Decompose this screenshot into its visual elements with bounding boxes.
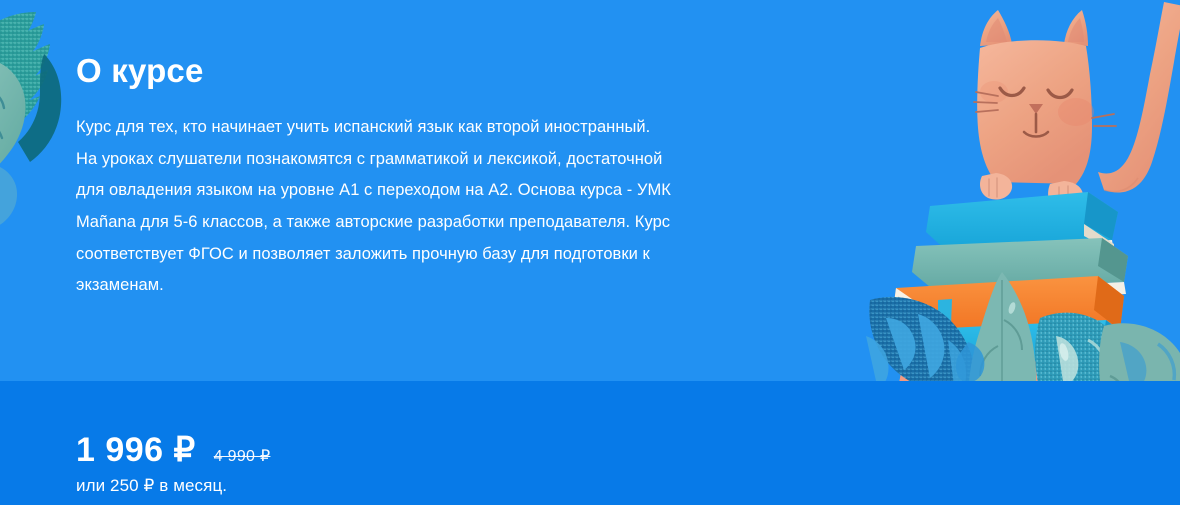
monthly-price-note: или 250 ₽ в месяц. (76, 476, 270, 496)
monstera-leaves-right-illustration (866, 272, 1180, 381)
old-price-strikethrough: 4 990 ₽ (214, 446, 271, 466)
about-text-column: О курсе Курс для тех, кто начинает учить… (76, 52, 696, 302)
price-row: 1 996 ₽ 4 990 ₽ (76, 432, 270, 469)
current-price: 1 996 ₽ (76, 432, 196, 469)
leaf-blue-accent (0, 164, 17, 226)
leaf-blue-drop (956, 342, 984, 381)
book-cyan-mid (906, 320, 1130, 381)
book-orange-large (892, 276, 1124, 356)
page-title: О курсе (76, 52, 696, 90)
leaf-light-teal (0, 59, 26, 186)
cat-body (974, 10, 1116, 211)
cat-on-books-illustration (852, 0, 1180, 381)
leaf-dark-wedge (18, 54, 61, 162)
leaf-sparkle-teal (0, 12, 50, 152)
leaf-center-upright (968, 272, 1036, 381)
book-salmon (898, 358, 1126, 381)
cat-tail (1098, 2, 1180, 192)
course-about-panel: О курсе Курс для тех, кто начинает учить… (0, 0, 1180, 505)
leaf-teal-sparkle (1035, 313, 1131, 381)
leaf-pale-teal-right (1099, 323, 1180, 381)
leaf-navy-sparkle (866, 297, 976, 381)
price-block: 1 996 ₽ 4 990 ₽ или 250 ₽ в месяц. (76, 432, 270, 496)
about-description: Курс для тех, кто начинает учить испанск… (76, 112, 676, 302)
book-stack (892, 192, 1130, 381)
book-cyan-top (926, 192, 1118, 264)
book-teal (912, 238, 1128, 304)
